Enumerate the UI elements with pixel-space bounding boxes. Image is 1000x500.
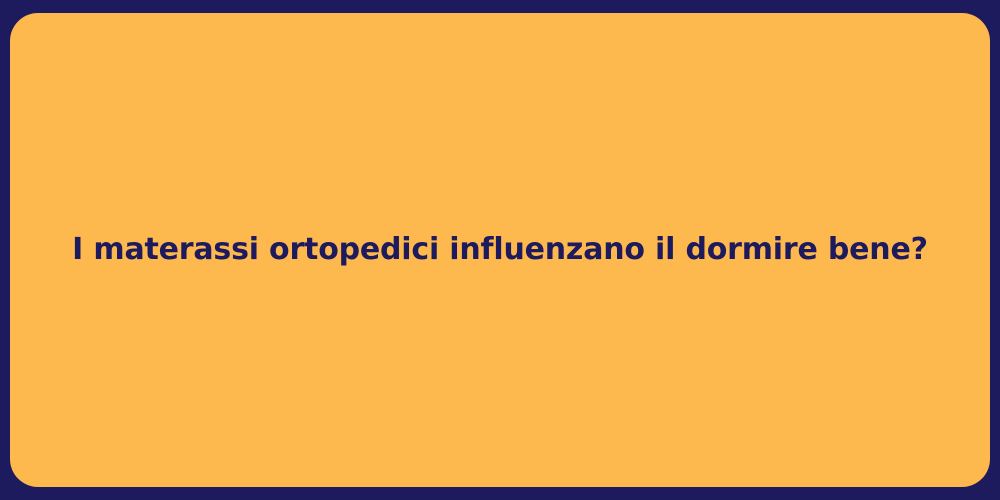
card-title: I materassi ortopedici influenzano il do…	[72, 231, 928, 269]
question-card: I materassi ortopedici influenzano il do…	[10, 13, 990, 487]
page-frame: I materassi ortopedici influenzano il do…	[0, 0, 1000, 500]
